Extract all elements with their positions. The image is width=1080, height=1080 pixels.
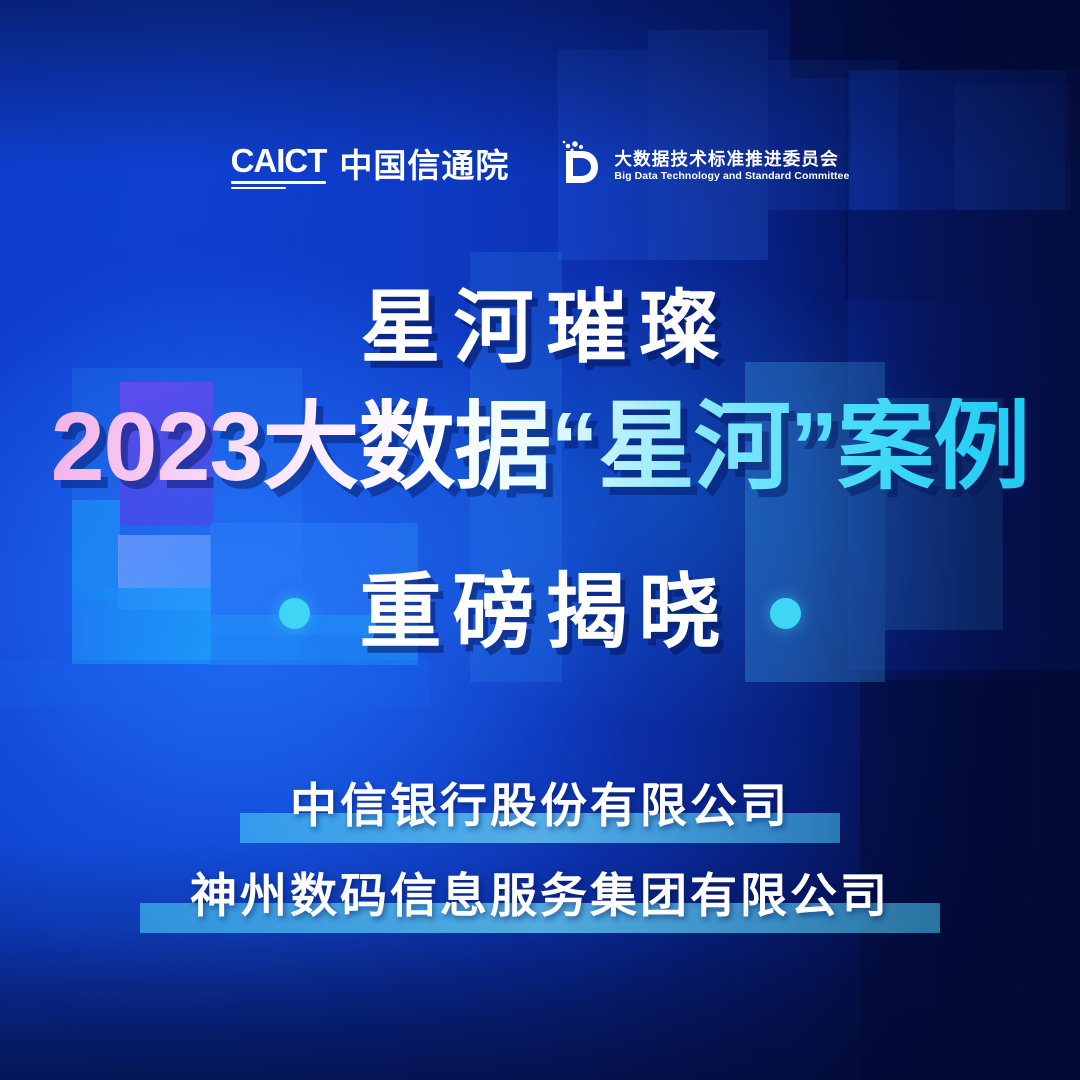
caict-logo: CAICT 中国信通院 xyxy=(231,144,510,189)
bdtsc-d-logo-icon xyxy=(555,140,601,193)
bdtsc-name-cn: 大数据技术标准推进委员会 xyxy=(614,151,849,169)
winner-name: 神州数码信息服务集团有限公司 xyxy=(0,872,1080,919)
caict-wordmark: CAICT xyxy=(231,144,327,189)
caict-rule-secondary xyxy=(231,187,287,189)
bdtsc-name-en: Big Data Technology and Standard Committ… xyxy=(614,171,849,182)
headline-line-3: 重磅揭晓 xyxy=(348,572,731,654)
logo-row: CAICT 中国信通院 大数据技术标准推进委员会 Big Data Tec xyxy=(0,140,1080,192)
headline-line-1: 星河璀璨 xyxy=(0,288,1080,368)
winner-name: 中信银行股份有限公司 xyxy=(0,782,1080,829)
bullet-dot-right-icon xyxy=(770,598,801,629)
winner-row: 神州数码信息服务集团有限公司 xyxy=(0,872,1080,919)
winner-row: 中信银行股份有限公司 xyxy=(0,782,1080,829)
bdtsc-logo: 大数据技术标准推进委员会 Big Data Technology and Sta… xyxy=(555,140,849,193)
headline-line-3-row: 重磅揭晓 xyxy=(0,572,1080,654)
poster-canvas: CAICT 中国信通院 大数据技术标准推进委员会 Big Data Tec xyxy=(0,0,1080,1080)
caict-name-cn: 中国信通院 xyxy=(339,149,509,189)
bullet-dot-left-icon xyxy=(279,598,310,629)
caict-rule-primary xyxy=(231,181,327,185)
bdtsc-text-block: 大数据技术标准推进委员会 Big Data Technology and Sta… xyxy=(614,151,849,182)
caict-acronym: CAICT xyxy=(231,144,327,177)
headline-line-2-main-title: 2023大数据“星河”案例 xyxy=(0,398,1080,495)
